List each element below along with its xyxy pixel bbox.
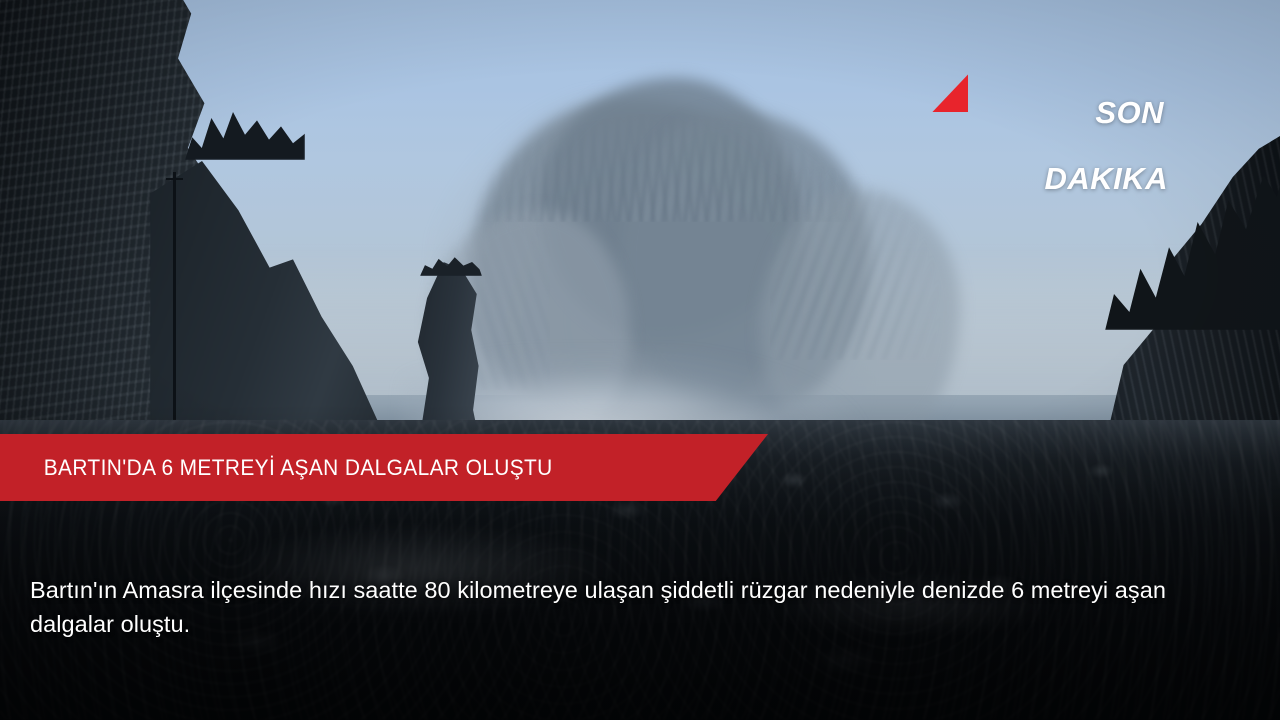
breaking-news-badge: SON DAKIKA <box>932 64 1168 228</box>
breaking-news-label: SON DAKIKA <box>1044 64 1168 228</box>
headline-banner: BARTIN'DA 6 METREYİ AŞAN DALGALAR OLUŞTU <box>0 434 768 501</box>
headline-text: BARTIN'DA 6 METREYİ AŞAN DALGALAR OLUŞTU <box>0 455 553 481</box>
caption-text: Bartın'ın Amasra ilçesinde hızı saatte 8… <box>30 573 1180 641</box>
utility-pole <box>173 172 176 430</box>
red-triangle-icon <box>932 74 968 112</box>
utility-pole-crossarm <box>166 178 183 180</box>
breaking-news-label-line1: SON <box>1044 97 1168 130</box>
breaking-news-label-line2: DAKIKA <box>1044 163 1168 196</box>
breaking-news-card: SON DAKIKA BARTIN'DA 6 METREYİ AŞAN DALG… <box>0 0 1280 720</box>
